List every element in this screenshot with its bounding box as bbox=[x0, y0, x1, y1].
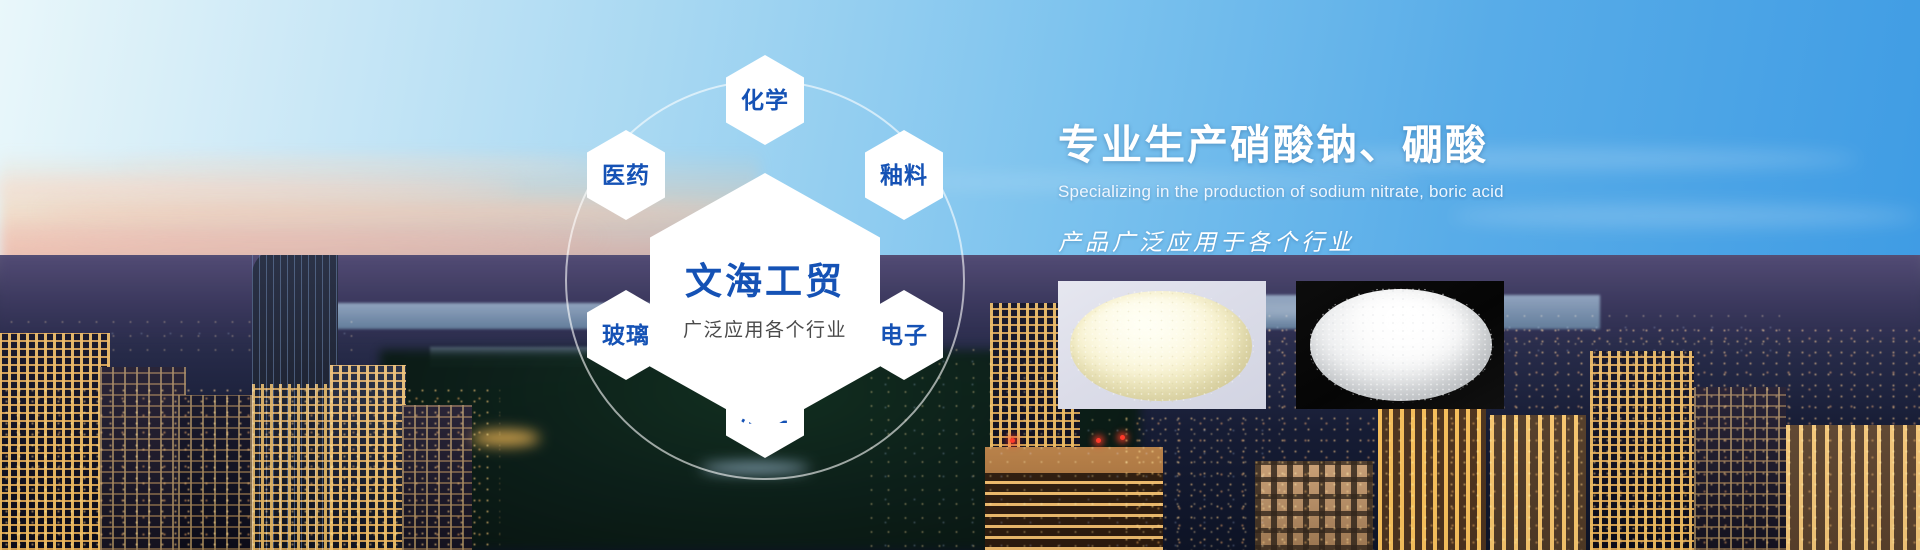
industry-label: 医药 bbox=[602, 164, 650, 187]
headline: 专业生产硝酸钠、硼酸 bbox=[1058, 122, 1578, 169]
product-photo-sodium-nitrate[interactable] bbox=[1058, 281, 1266, 409]
industry-label: 化学 bbox=[741, 89, 789, 112]
copy-block: 专业生产硝酸钠、硼酸 Specializing in the productio… bbox=[1058, 122, 1578, 257]
brand-tagline: 广泛应用各个行业 bbox=[683, 315, 847, 342]
industry-hex-diagram: 化学 釉料 电子 冶金 玻璃 医药 文海工贸 广泛应用各个行业 bbox=[515, 30, 1015, 530]
cloud-band bbox=[0, 232, 600, 242]
subtitle-chinese: 产品广泛应用于各个行业 bbox=[1058, 223, 1578, 257]
industry-label: 釉料 bbox=[880, 164, 928, 187]
powder-granules bbox=[1068, 289, 1254, 403]
promo-banner: 化学 釉料 电子 冶金 玻璃 医药 文海工贸 广泛应用各个行业 专业生产硝酸钠、… bbox=[0, 0, 1920, 550]
product-photo-group bbox=[1058, 281, 1504, 409]
industry-label: 玻璃 bbox=[602, 324, 650, 347]
powder-granules bbox=[1308, 287, 1494, 403]
product-photo-boric-acid[interactable] bbox=[1296, 281, 1504, 409]
dense-city-lights bbox=[0, 385, 500, 550]
brand-name: 文海工贸 bbox=[685, 262, 845, 303]
industry-label: 电子 bbox=[880, 324, 928, 347]
subtitle-english: Specializing in the production of sodium… bbox=[1058, 182, 1578, 202]
